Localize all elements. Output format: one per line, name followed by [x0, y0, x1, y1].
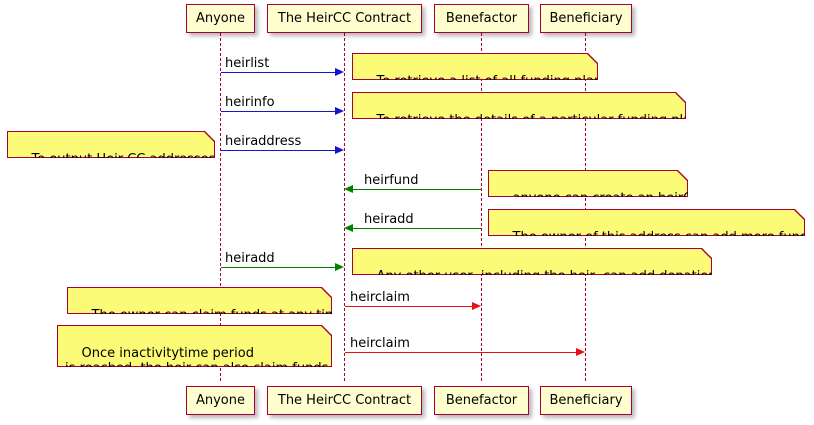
participant-beneficiary-top[interactable]: Beneficiary: [540, 4, 632, 33]
note-text: The owner can claim funds at any time: [92, 308, 346, 323]
participant-label: Beneficiary: [549, 12, 622, 25]
note-text: Any other user, including the heir, can …: [377, 269, 724, 284]
note-fold-icon: [321, 288, 331, 298]
message-arrow-heiraddress: [221, 150, 335, 151]
message-label-heirclaim-beneficiary: heirclaim: [350, 337, 410, 350]
message-label-heiradd-left: heiradd: [364, 213, 414, 226]
participant-label: Anyone: [196, 394, 245, 407]
message-arrow-heirlist: [221, 72, 335, 73]
note-text: The owner of this address can add more f…: [513, 230, 814, 245]
message-arrow-heirfund: [353, 189, 481, 190]
note-anyone-create: anyone can create an heirCC: [488, 170, 688, 197]
note-fold-icon: [794, 210, 804, 220]
note-fold-icon: [587, 54, 597, 64]
note-retrieve-details: To retrieve the details of a particular …: [352, 92, 686, 119]
note-fold-icon: [701, 249, 711, 259]
arrow-head-icon: [344, 185, 353, 193]
participant-contract-top[interactable]: The HeirCC Contract: [267, 4, 422, 33]
note-fold-icon: [321, 326, 331, 336]
note-owner-claim: The owner can claim funds at any time: [67, 287, 332, 314]
arrow-head-icon: [344, 224, 353, 232]
message-label-heirinfo: heirinfo: [225, 96, 275, 109]
participant-label: Benefactor: [446, 12, 517, 25]
message-arrow-heiradd-right: [221, 267, 335, 268]
message-label-heirfund: heirfund: [364, 174, 419, 187]
message-label-heirlist: heirlist: [225, 57, 269, 70]
message-arrow-heiradd-left: [353, 228, 481, 229]
note-fold-icon: [677, 171, 687, 181]
note-inactivity-claim: Once inactivitytime period is reached, t…: [57, 325, 332, 367]
participant-beneficiary-bottom[interactable]: Beneficiary: [540, 386, 632, 415]
note-output-addresses: To output Heir CC addresses: [7, 131, 215, 158]
note-owner-add-funds: The owner of this address can add more f…: [488, 209, 805, 236]
message-label-heiraddress: heiraddress: [225, 135, 301, 148]
participant-label: The HeirCC Contract: [278, 12, 411, 25]
arrow-head-icon: [335, 68, 344, 76]
note-text: To retrieve a list of all funding plans: [377, 74, 609, 89]
note-text: To retrieve the details of a particular …: [377, 113, 700, 128]
message-label-heirclaim-benefactor: heirclaim: [350, 291, 410, 304]
participant-anyone-bottom[interactable]: Anyone: [186, 386, 255, 415]
note-text: Once inactivitytime period is reached, t…: [65, 346, 328, 376]
note-text: To output Heir CC addresses: [32, 152, 216, 167]
message-arrow-heirclaim-beneficiary: [345, 352, 576, 353]
note-fold-icon: [675, 93, 685, 103]
arrow-head-icon: [335, 146, 344, 154]
arrow-head-icon: [335, 263, 344, 271]
sequence-diagram: Anyone The HeirCC Contract Benefactor Be…: [0, 0, 814, 425]
note-text: anyone can create an heirCC: [513, 191, 702, 206]
participant-label: The HeirCC Contract: [278, 394, 411, 407]
arrow-head-icon: [335, 107, 344, 115]
note-fold-icon: [204, 132, 214, 142]
arrow-head-icon: [576, 348, 585, 356]
note-retrieve-list: To retrieve a list of all funding plans: [352, 53, 598, 80]
participant-contract-bottom[interactable]: The HeirCC Contract: [267, 386, 422, 415]
participant-label: Anyone: [196, 12, 245, 25]
participant-benefactor-bottom[interactable]: Benefactor: [434, 386, 529, 415]
arrow-head-icon: [472, 302, 481, 310]
participant-label: Benefactor: [446, 394, 517, 407]
lifeline-benefactor: [481, 33, 482, 381]
participant-label: Beneficiary: [549, 394, 622, 407]
lifeline-beneficiary: [585, 33, 586, 381]
message-arrow-heirinfo: [221, 111, 335, 112]
message-label-heiradd-right: heiradd: [225, 252, 275, 265]
message-arrow-heirclaim-benefactor: [345, 306, 472, 307]
participant-anyone-top[interactable]: Anyone: [186, 4, 255, 33]
note-any-other-user: Any other user, including the heir, can …: [352, 248, 712, 275]
lifeline-contract: [344, 33, 345, 381]
participant-benefactor-top[interactable]: Benefactor: [434, 4, 529, 33]
